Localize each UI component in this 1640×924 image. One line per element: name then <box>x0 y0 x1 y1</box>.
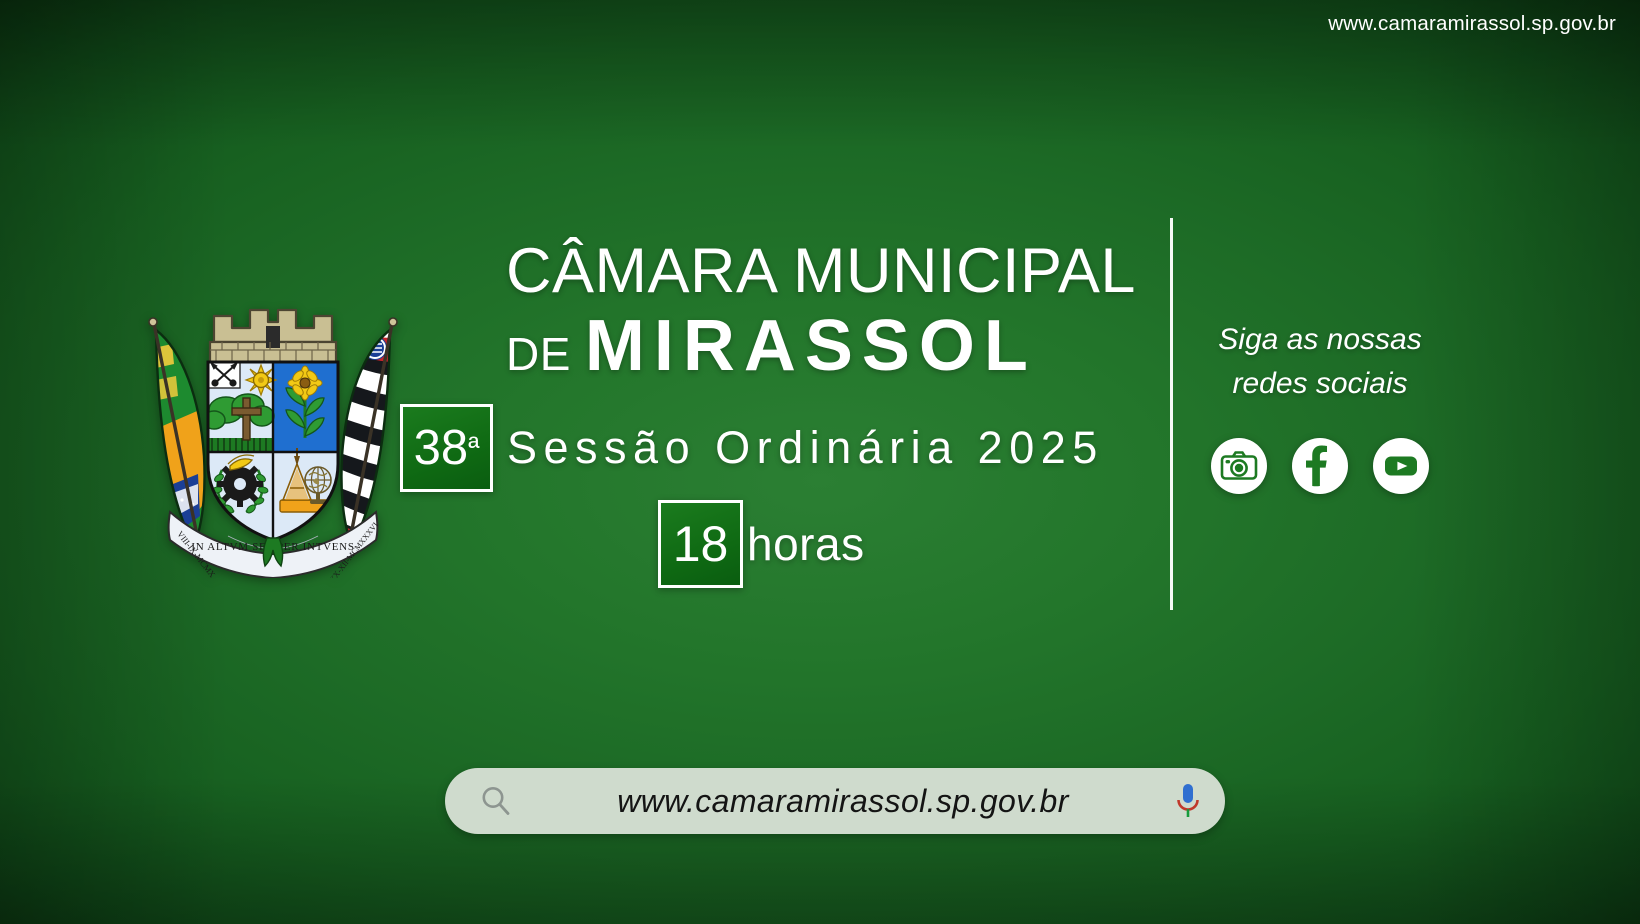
search-bar[interactable]: www.camaramirassol.sp.gov.br <box>445 768 1225 834</box>
social-icon-row <box>1185 438 1455 494</box>
sao-paulo-flag <box>336 318 397 552</box>
search-input[interactable]: www.camaramirassol.sp.gov.br <box>513 783 1173 820</box>
session-row: 38ª Sessão Ordinária 2025 <box>400 404 1104 492</box>
mural-crown <box>210 310 336 362</box>
page-title-line1: CÂMARA MUNICIPAL <box>506 240 1136 303</box>
youtube-icon <box>1373 438 1429 494</box>
hour-label: horas <box>747 517 865 571</box>
facebook-icon <box>1292 438 1348 494</box>
hours-row: 18 horas <box>658 500 865 588</box>
social-heading-line1: Siga as nossas <box>1185 318 1455 362</box>
session-label: Sessão Ordinária 2025 <box>507 422 1104 474</box>
hour-number: 18 <box>673 519 729 569</box>
title-city: MIRASSOL <box>585 310 1037 382</box>
session-number-badge: 38ª <box>400 404 493 492</box>
session-number: 38 <box>414 424 469 473</box>
social-section: Siga as nossas redes sociais <box>1185 318 1455 494</box>
page-title-line2: DE MIRASSOL <box>506 310 1037 382</box>
social-heading: Siga as nossas redes sociais <box>1185 318 1455 406</box>
youtube-link[interactable] <box>1373 438 1429 494</box>
instagram-link[interactable] <box>1211 438 1267 494</box>
site-url-top: www.camaramirassol.sp.gov.br <box>1328 12 1616 36</box>
hour-badge: 18 <box>658 500 743 588</box>
microphone-icon[interactable] <box>1173 782 1203 820</box>
brazil-flag <box>149 318 208 550</box>
poster-background: www.camaramirassol.sp.gov.br <box>0 0 1640 924</box>
instagram-camera-icon <box>1211 438 1267 494</box>
title-de: DE <box>506 331 571 377</box>
social-heading-line2: redes sociais <box>1185 362 1455 406</box>
facebook-link[interactable] <box>1292 438 1348 494</box>
shield <box>203 362 338 540</box>
sun <box>246 365 276 395</box>
main-text-block: CÂMARA MUNICIPAL DE MIRASSOL 38ª Sessão … <box>400 212 1120 612</box>
brasao-mirassol: IN ALTVM SEMPER INTVENS VIII-IX-MCMX XXX… <box>142 288 404 578</box>
search-icon <box>479 784 513 818</box>
vertical-divider <box>1170 218 1173 610</box>
